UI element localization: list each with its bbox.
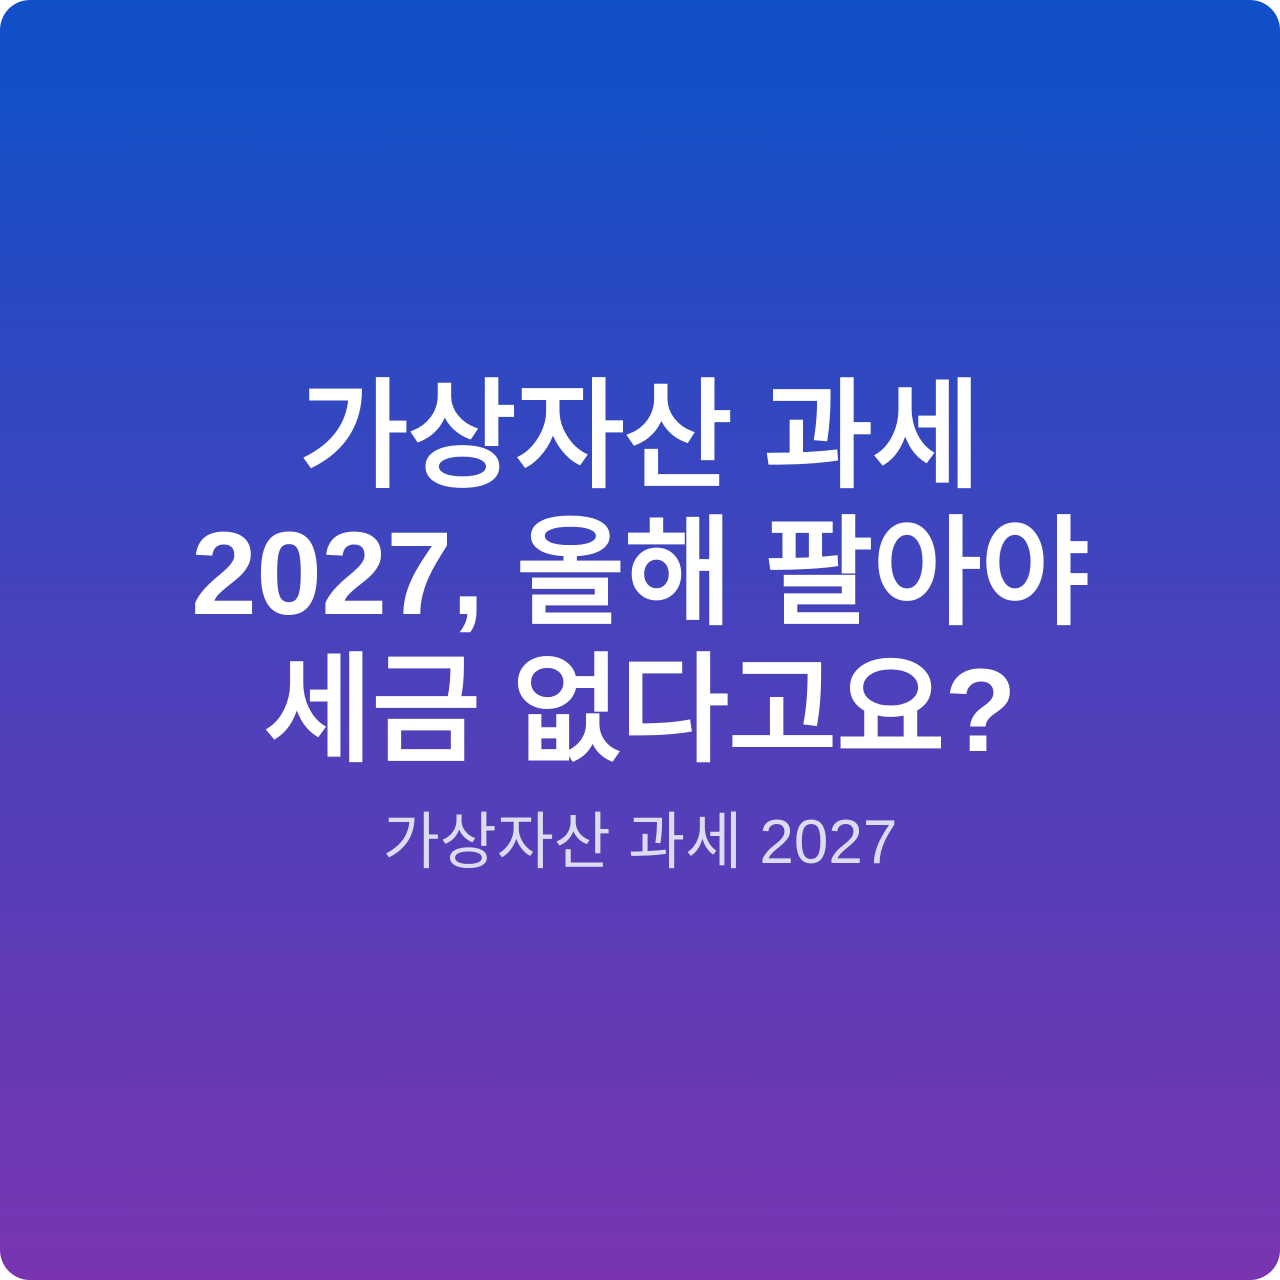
page-subtitle: 가상자산 과세 2027 bbox=[383, 806, 898, 880]
page-title: 가상자산 과세 2027, 올해 팔아야 세금 없다고요? bbox=[191, 369, 1089, 780]
card-content: 가상자산 과세 2027, 올해 팔아야 세금 없다고요? 가상자산 과세 20… bbox=[80, 369, 1200, 880]
title-line-1: 가상자산 과세 bbox=[191, 369, 1089, 506]
title-line-3: 세금 없다고요? bbox=[191, 643, 1089, 780]
promo-card: 가상자산 과세 2027, 올해 팔아야 세금 없다고요? 가상자산 과세 20… bbox=[0, 0, 1280, 1280]
title-line-2: 2027, 올해 팔아야 bbox=[191, 506, 1089, 643]
